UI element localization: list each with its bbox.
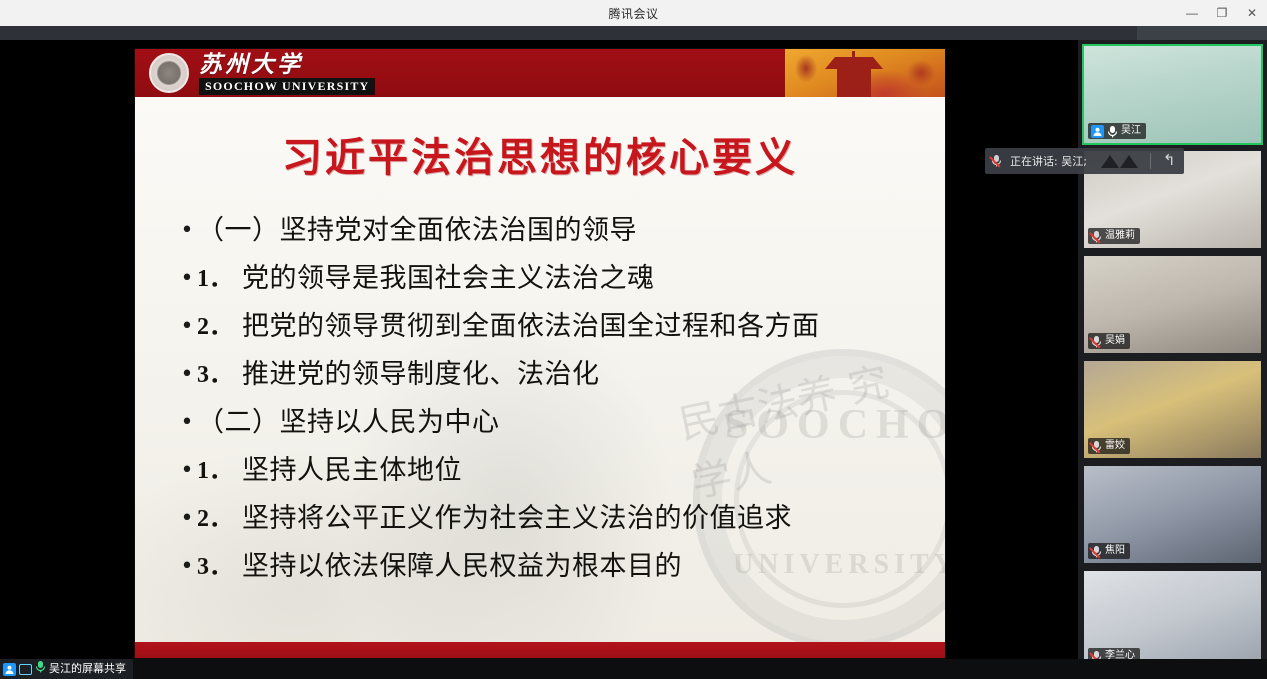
participant-name-bar: 吴江 bbox=[1088, 123, 1146, 139]
participant-tile[interactable]: 李兰心 bbox=[1084, 571, 1261, 668]
tree-silhouette-right bbox=[901, 57, 941, 97]
bullet-number: 2． bbox=[197, 497, 233, 541]
slide-title: 习近平法治思想的核心要义 bbox=[135, 125, 945, 183]
slide-bullet-item: •（一）坚持党对全面依法治国的领导 bbox=[177, 209, 917, 253]
screen-share-label: 吴江的屏幕共享 bbox=[49, 659, 126, 679]
active-speaker-label: 正在讲话: 吴江; bbox=[1010, 153, 1087, 169]
screen-share-indicator[interactable]: 吴江的屏幕共享 bbox=[0, 659, 133, 679]
bullet-number: 1． bbox=[197, 257, 233, 301]
presentation-slide: SOOCHOW UNIVERSITY 民古法养 究 学人 苏州大学 SOOCHO… bbox=[135, 49, 945, 658]
participant-video-rail[interactable]: 吴江温雅莉吴娟雷姣焦阳李兰心 bbox=[1078, 40, 1267, 659]
participant-tile[interactable]: 雷姣 bbox=[1084, 361, 1261, 458]
bullet-dot-icon: • bbox=[177, 353, 197, 397]
bullet-text: （一）坚持党对全面依法治国的领导 bbox=[197, 209, 637, 253]
bullet-text: 推进党的领导制度化、法治化 bbox=[242, 353, 600, 397]
slide-bullet-item: •3．推进党的领导制度化、法治化 bbox=[177, 353, 917, 397]
participant-tile[interactable]: 吴娟 bbox=[1084, 256, 1261, 353]
bullet-dot-icon: • bbox=[177, 449, 197, 493]
window-title: 腾讯会议 bbox=[608, 5, 658, 22]
bullet-number: 3． bbox=[197, 353, 233, 397]
bullet-dot-icon: • bbox=[177, 401, 197, 445]
bullet-dot-icon: • bbox=[177, 209, 197, 253]
participant-name: 雷姣 bbox=[1105, 438, 1125, 454]
pagoda-illustration bbox=[785, 49, 945, 97]
slide-bullet-item: •（二）坚持以人民为中心 bbox=[177, 401, 917, 445]
participant-name-bar: 雷姣 bbox=[1088, 438, 1130, 454]
restore-button[interactable]: ❐ bbox=[1207, 0, 1237, 26]
slide-bullet-item: •1．党的领导是我国社会主义法治之魂 bbox=[177, 257, 917, 301]
window-controls: — ❐ ✕ bbox=[1177, 0, 1267, 26]
mic-active-icon bbox=[1107, 125, 1118, 138]
participant-name-bar: 吴娟 bbox=[1088, 333, 1130, 349]
participant-name-bar: 温雅莉 bbox=[1088, 228, 1140, 244]
shared-screen-stage[interactable]: SOOCHOW UNIVERSITY 民古法养 究 学人 苏州大学 SOOCHO… bbox=[0, 40, 1078, 659]
participant-name: 吴江 bbox=[1121, 123, 1141, 139]
gate-finial bbox=[852, 51, 855, 58]
bullet-text: 党的领导是我国社会主义法治之魂 bbox=[242, 257, 655, 301]
bullet-number: 2． bbox=[197, 305, 233, 349]
bullet-text: 把党的领导贯彻到全面依法治国全过程和各方面 bbox=[242, 305, 820, 349]
bullet-text: 坚持人民主体地位 bbox=[242, 449, 462, 493]
participant-tile[interactable]: 吴江 bbox=[1084, 46, 1261, 143]
window-title-bar: 腾讯会议 — ❐ ✕ bbox=[0, 0, 1267, 26]
gate-body bbox=[837, 67, 871, 97]
status-bar: 吴江的屏幕共享 bbox=[0, 659, 1267, 679]
active-speaker-toolbar[interactable]: 正在讲话: 吴江; ↰ bbox=[985, 148, 1184, 174]
host-badge-icon bbox=[1091, 125, 1104, 138]
back-arrow-icon[interactable]: ↰ bbox=[1163, 153, 1176, 169]
participant-name: 温雅莉 bbox=[1105, 228, 1135, 244]
university-name-cn: 苏州大学 bbox=[199, 53, 375, 77]
bullet-number: 3． bbox=[197, 545, 233, 589]
slide-bullet-item: •2．坚持将公平正义作为社会主义法治的价值追求 bbox=[177, 497, 917, 541]
mic-active-icon bbox=[35, 660, 46, 678]
university-name-block: 苏州大学 SOOCHOW UNIVERSITY bbox=[199, 53, 375, 95]
university-name-en: SOOCHOW UNIVERSITY bbox=[199, 78, 375, 95]
tree-silhouette-left bbox=[791, 53, 821, 97]
toolbar-divider bbox=[1150, 153, 1151, 169]
bullet-text: （二）坚持以人民为中心 bbox=[197, 401, 500, 445]
collapse-chevrons-icon[interactable] bbox=[1101, 155, 1138, 168]
screen-share-icon bbox=[19, 664, 32, 675]
slide-bullet-item: •3．坚持以依法保障人民权益为根本目的 bbox=[177, 545, 917, 589]
slide-bullet-list: •（一）坚持党对全面依法治国的领导•1．党的领导是我国社会主义法治之魂•2．把党… bbox=[177, 209, 917, 593]
toolbar-strip-highlight bbox=[1137, 26, 1267, 40]
mic-muted-icon bbox=[1091, 440, 1102, 453]
host-badge-icon bbox=[3, 663, 16, 676]
participant-name: 吴娟 bbox=[1105, 333, 1125, 349]
gate-roof bbox=[825, 57, 883, 69]
mic-muted-icon bbox=[991, 154, 1002, 169]
participant-name: 焦阳 bbox=[1105, 543, 1125, 559]
mic-muted-icon bbox=[1091, 545, 1102, 558]
bullet-dot-icon: • bbox=[177, 545, 197, 589]
bullet-text: 坚持将公平正义作为社会主义法治的价值追求 bbox=[242, 497, 792, 541]
mic-muted-icon bbox=[1091, 230, 1102, 243]
bullet-dot-icon: • bbox=[177, 497, 197, 541]
participant-tile[interactable]: 焦阳 bbox=[1084, 466, 1261, 563]
bullet-number: 1． bbox=[197, 449, 233, 493]
participant-name-bar: 焦阳 bbox=[1088, 543, 1130, 559]
minimize-button[interactable]: — bbox=[1177, 0, 1207, 26]
close-button[interactable]: ✕ bbox=[1237, 0, 1267, 26]
mic-muted-icon bbox=[1091, 335, 1102, 348]
bullet-text: 坚持以依法保障人民权益为根本目的 bbox=[242, 545, 682, 589]
bullet-dot-icon: • bbox=[177, 257, 197, 301]
bullet-dot-icon: • bbox=[177, 305, 197, 349]
university-seal-icon bbox=[149, 53, 189, 93]
toolbar-strip bbox=[0, 26, 1267, 40]
slide-bullet-item: •2．把党的领导贯彻到全面依法治国全过程和各方面 bbox=[177, 305, 917, 349]
slide-bullet-item: •1．坚持人民主体地位 bbox=[177, 449, 917, 493]
slide-footer-bar bbox=[135, 642, 945, 658]
